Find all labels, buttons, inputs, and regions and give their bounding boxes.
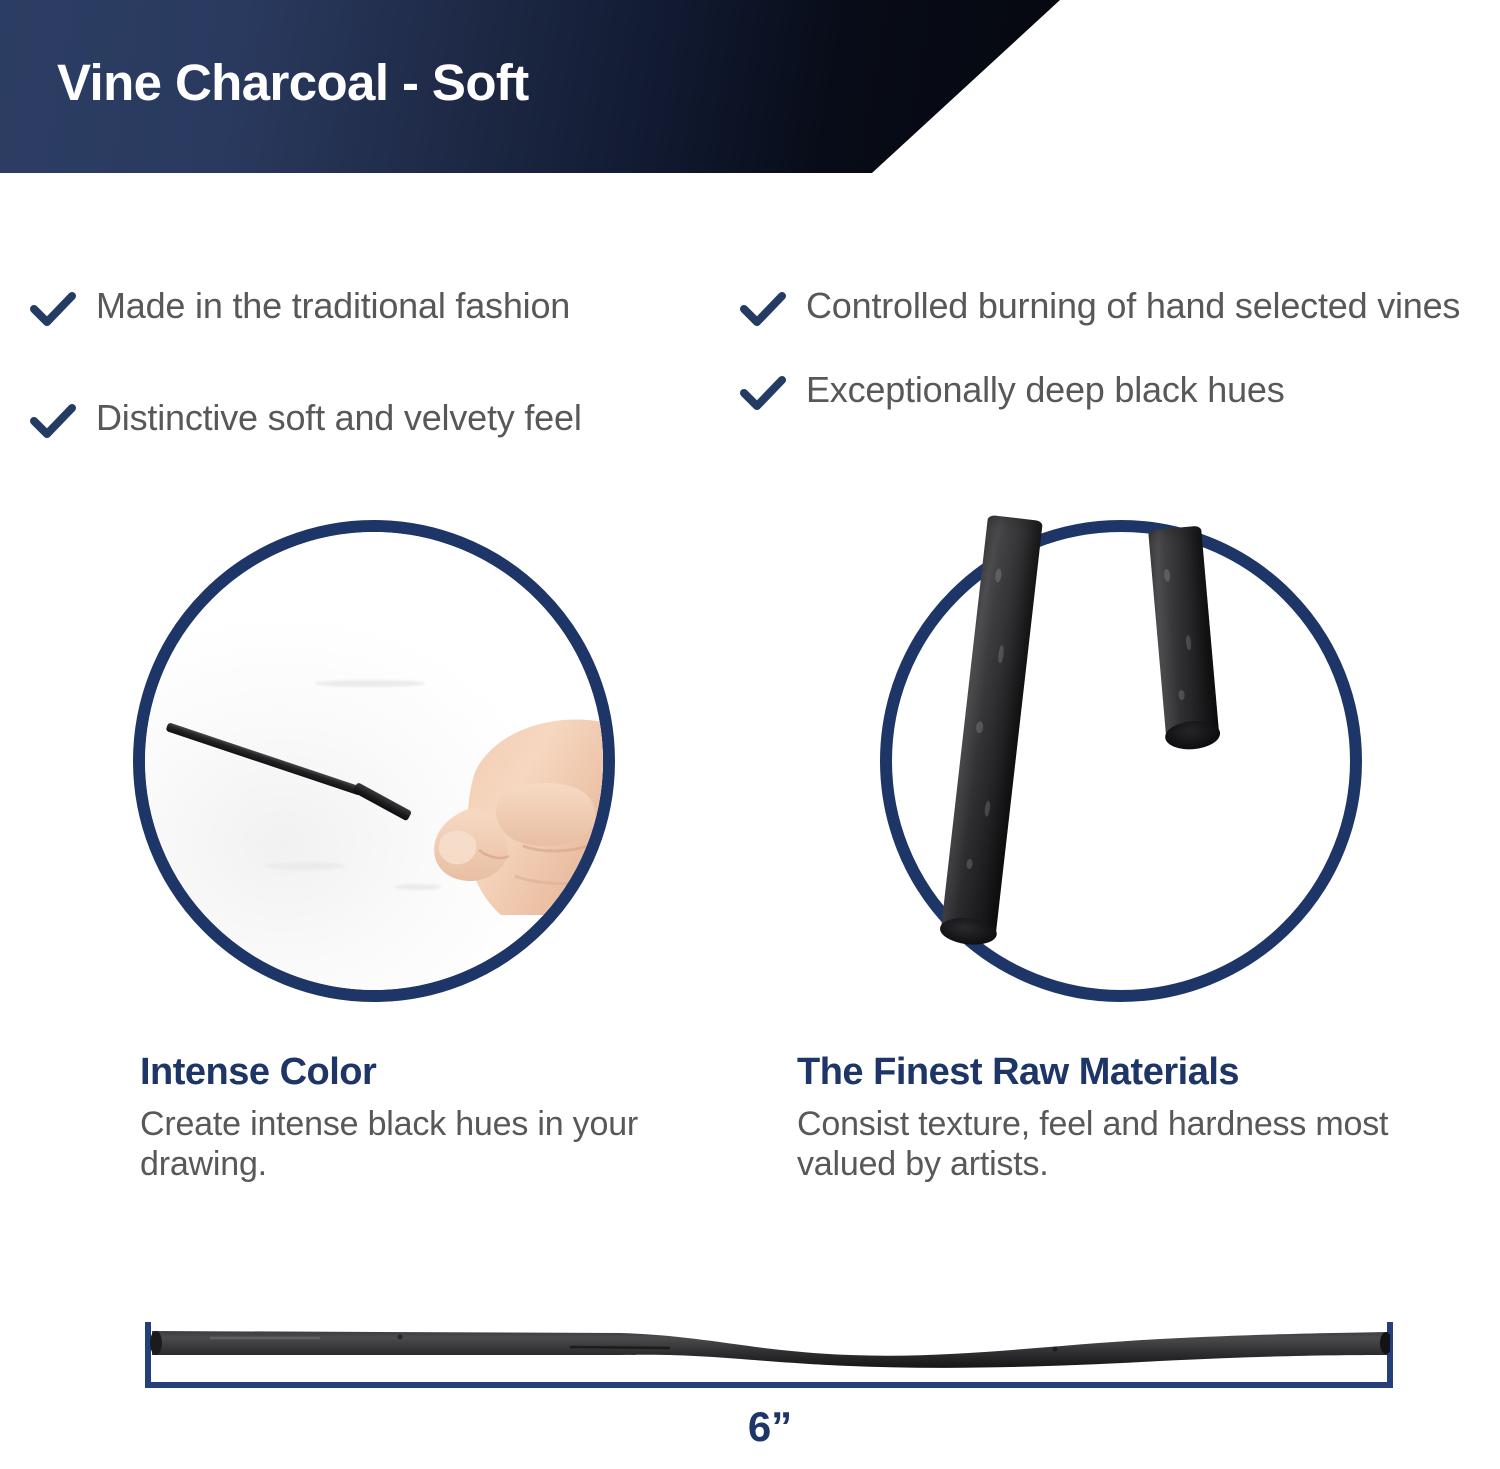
header-banner: Vine Charcoal - Soft: [0, 0, 1060, 173]
texture-speck: [1185, 635, 1191, 650]
check-icon: [740, 287, 786, 333]
list-item: Distinctive soft and velvety feel: [30, 395, 730, 445]
panel-finest-raw-materials: [880, 520, 1500, 1002]
hand-illustration: [383, 700, 603, 915]
texture-speck: [997, 645, 1004, 663]
page-title: Vine Charcoal - Soft: [57, 57, 529, 108]
list-item: Made in the traditional fashion: [30, 283, 730, 333]
charcoal-stick-large: [941, 515, 1043, 939]
feature-bullets-right-column: Controlled burning of hand selected vine…: [740, 283, 1500, 451]
texture-speck: [1178, 690, 1185, 700]
texture-speck: [984, 800, 991, 816]
caption-title: The Finest Raw Materials: [797, 1052, 1457, 1094]
caption-body: Create intense black hues in your drawin…: [140, 1104, 760, 1184]
feature-bullets-left-column: Made in the traditional fashion Distinct…: [30, 283, 730, 479]
list-item-label: Distinctive soft and velvety feel: [96, 395, 582, 440]
photo-content: [145, 532, 603, 990]
measurement-label: 6”: [0, 1403, 1500, 1451]
list-item-label: Exceptionally deep black hues: [806, 367, 1285, 412]
photo-content: [880, 520, 1362, 1002]
check-icon: [30, 287, 76, 333]
texture-speck: [1164, 569, 1171, 582]
panel-intense-color: [133, 520, 753, 1002]
feature-bullets: Made in the traditional fashion Distinct…: [0, 283, 1500, 483]
charcoal-sticks-closeup-photo: [880, 520, 1362, 1002]
texture-speck: [975, 721, 983, 734]
list-item-label: Controlled burning of hand selected vine…: [806, 283, 1460, 328]
caption-body: Consist texture, feel and hardness most …: [797, 1104, 1457, 1184]
list-item-label: Made in the traditional fashion: [96, 283, 570, 328]
hand-holding-charcoal-photo: [133, 520, 615, 1002]
paper-smudge: [265, 862, 345, 870]
circle-image-frame: [880, 520, 1362, 1002]
texture-speck: [995, 568, 1003, 583]
caption-title: Intense Color: [140, 1052, 760, 1094]
charcoal-stick-full-length-photo: [150, 1325, 1390, 1371]
caption-finest-raw-materials: The Finest Raw Materials Consist texture…: [797, 1052, 1457, 1184]
check-icon: [30, 399, 76, 445]
paper-smudge: [315, 680, 425, 687]
list-item: Exceptionally deep black hues: [740, 367, 1500, 417]
product-size-section: 6”: [0, 1300, 1500, 1469]
charcoal-stick-small: [1148, 526, 1219, 742]
check-icon: [740, 371, 786, 417]
list-item: Controlled burning of hand selected vine…: [740, 283, 1500, 333]
texture-speck: [966, 859, 973, 870]
circle-image-frame: [133, 520, 615, 1002]
caption-intense-color: Intense Color Create intense black hues …: [140, 1052, 760, 1184]
